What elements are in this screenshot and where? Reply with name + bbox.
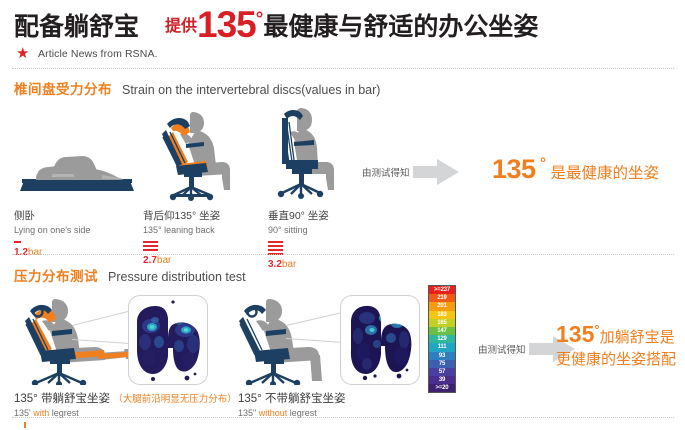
legend-row-0: >=237 — [429, 286, 455, 294]
figureB-label-cn: 135° 不带躺舒宝坐姿 — [238, 393, 345, 405]
section1-conclusion: 135 ° 是最健康的坐姿 — [492, 154, 659, 185]
byline-text: Article News from RSNA. — [38, 48, 158, 60]
page-title-part-2: 最健康与舒适的办公坐姿 — [263, 12, 538, 42]
chair-without-legrest-icon — [222, 293, 334, 385]
star-icon: ★ — [16, 47, 30, 61]
section2-heading-cn: 压力分布测试 — [14, 265, 98, 285]
person-lying-on-side-icon — [12, 123, 142, 203]
section2-conclusion-degree-icon: ° — [594, 322, 599, 337]
pressure-map-box-with-legrest — [128, 295, 208, 385]
section1-heading-cn: 椎间盘受力分布 — [14, 78, 112, 98]
legend-row-11: 39 — [429, 376, 455, 384]
figure3-label-en: 90° sitting — [268, 225, 329, 235]
legend-row-3: 183 — [429, 311, 455, 319]
byline: ★ Article News from RSNA. — [16, 47, 158, 61]
section2-arrow-label: 由测试得知 — [478, 342, 526, 356]
legend-row-12: >=20 — [429, 384, 455, 392]
legend-row-2: 201 — [429, 302, 455, 310]
section1-arrow-label: 由测试得知 — [362, 165, 410, 179]
section1-conclusion-degree-icon: ° — [540, 155, 546, 172]
section-disc-strain: 椎间盘受力分布 Strain on the intervertebral dis… — [0, 78, 685, 258]
section2-conclusion-number: 135 — [556, 321, 594, 347]
figure3-bar-indicator — [268, 241, 329, 255]
section1-conclusion-text: 是最健康的坐姿 — [550, 165, 659, 182]
figureA-caption: 135° 带躺舒宝坐姿 （大腿前沿明显无压力分布） 135' with legr… — [14, 390, 237, 418]
figure1-value: 1.2bar — [14, 247, 90, 258]
pressure-color-scale: >=23721920118316514712911193755739>=20 — [428, 285, 456, 393]
right-arrow-icon — [413, 159, 459, 185]
page-title: 配备躺舒宝 提供 135 ° 最健康与舒适的办公坐姿 — [14, 2, 674, 42]
legend-row-5: 147 — [429, 327, 455, 335]
legend-row-8: 93 — [429, 352, 455, 360]
section1-heading: 椎间盘受力分布 Strain on the intervertebral dis… — [14, 78, 380, 98]
section1-arrow-group: 由测试得知 — [362, 159, 459, 185]
figure3-label-cn: 垂直90° 坐姿 — [268, 208, 329, 223]
header-divider — [12, 68, 674, 69]
figure3-caption: 垂直90° 坐姿 90° sitting 3.2bar — [268, 208, 329, 270]
chair-leaning-back-135-icon — [140, 104, 236, 204]
legend-row-10: 57 — [429, 368, 455, 376]
page-title-angle-number: 135 — [197, 8, 256, 42]
section1-conclusion-number: 135 — [492, 154, 536, 184]
figure1-bar-indicator — [14, 241, 90, 243]
figure1-caption: 侧卧 Lying on one's side 1.2bar — [14, 208, 90, 258]
figure1-value-number: 1.2 — [14, 247, 28, 258]
section1-divider — [12, 254, 674, 255]
legend-row-6: 129 — [429, 335, 455, 343]
section-pressure-distribution: 压力分布测试 Pressure distribution test — [0, 265, 685, 430]
section2-conclusion-text-1: 加躺舒宝是 — [600, 329, 675, 346]
section2-heading-en: Pressure distribution test — [108, 270, 246, 284]
degree-symbol-icon: ° — [256, 10, 264, 30]
chair-upright-90-icon — [256, 100, 356, 204]
legend-row-9: 75 — [429, 360, 455, 368]
legend-row-1: 219 — [429, 294, 455, 302]
legend-row-4: 165 — [429, 319, 455, 327]
pressure-map-box-without-legrest — [340, 295, 420, 385]
pressure-heatmap-high-icon — [341, 296, 419, 384]
figure2-label-en: 135° leaning back — [143, 225, 220, 235]
figure2-caption: 背后仰135° 坐姿 135° leaning back 2.7bar — [143, 208, 220, 266]
legend-row-7: 111 — [429, 343, 455, 351]
section2-conclusion-line1: 135°加躺舒宝是 — [556, 323, 676, 349]
pressure-heatmap-low-icon — [129, 296, 207, 384]
page-title-provide: 提供 — [165, 12, 197, 42]
figureA-label-cn: 135° 带躺舒宝坐姿 — [14, 393, 110, 405]
page-title-part-1: 配备躺舒宝 — [14, 12, 139, 42]
figure1-label-en: Lying on one's side — [14, 225, 90, 235]
section2-divider — [12, 417, 674, 418]
figure2-bar-indicator — [143, 241, 220, 251]
page-header: 配备躺舒宝 提供 135 ° 最健康与舒适的办公坐姿 ★ Article New… — [0, 0, 685, 72]
figureA-label-note: （大腿前沿明显无压力分布） — [113, 394, 237, 405]
figure1-label-cn: 侧卧 — [14, 208, 90, 223]
section1-heading-en: Strain on the intervertebral discs(value… — [122, 83, 380, 97]
figure2-label-cn: 背后仰135° 坐姿 — [143, 208, 220, 223]
section2-conclusion-text-2: 更健康的坐姿搭配 — [556, 349, 676, 371]
section2-conclusion: 135°加躺舒宝是 更健康的坐姿搭配 — [556, 323, 676, 371]
section2-heading: 压力分布测试 Pressure distribution test — [14, 265, 246, 285]
figure1-value-unit: bar — [28, 247, 42, 258]
bottom-accent-dot — [24, 422, 26, 428]
figureB-caption: 135° 不带躺舒宝坐姿 135" without legrest — [238, 390, 345, 418]
